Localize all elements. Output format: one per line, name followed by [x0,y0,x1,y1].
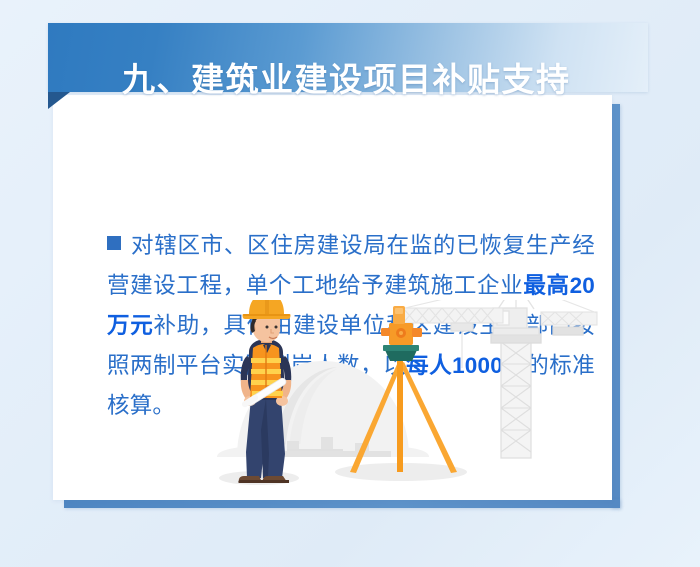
content-card: 对辖区市、区住房建设局在监的已恢复生产经营建设工程，单个工地给予建筑施工企业最高… [53,95,612,500]
decorative-frame-right-bar [611,104,620,508]
poster-root: 对辖区市、区住房建设局在监的已恢复生产经营建设工程，单个工地给予建筑施工企业最高… [0,0,700,567]
tower-crane-icon [403,300,597,458]
text-segment: 对辖区市、区住房建设局在监的已恢复生产经营建设工程，单个工地给予建筑施工企业 [107,233,595,298]
construction-worker-illustration [238,300,291,483]
section-title-banner: 九、建筑业建设项目补贴支持 [48,23,648,92]
construction-scene-illustration [53,300,612,500]
hard-hat-icon [243,300,291,319]
page-title: 九、建筑业建设项目补贴支持 [122,56,682,104]
banner-fold-notch [48,92,70,109]
decorative-frame-bottom-bar [64,499,620,508]
